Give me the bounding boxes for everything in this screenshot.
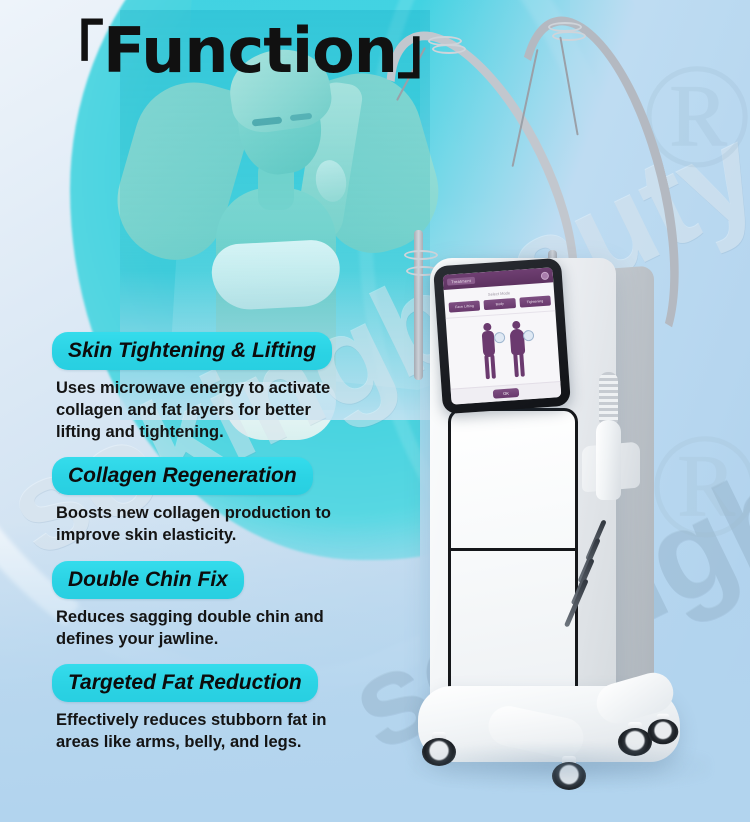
feature-item: Targeted Fat Reduction Effectively reduc… xyxy=(52,664,392,754)
feature-description: Boosts new collagen production to improv… xyxy=(56,503,346,547)
treatment-zone-badge-female xyxy=(493,332,505,344)
screen-body-diagram xyxy=(446,310,561,389)
beauty-machine: Treatment Select Mode Face Lifting Body … xyxy=(400,0,750,822)
screen-ok-button[interactable]: OK xyxy=(493,388,519,399)
screen-mode-button-2[interactable]: Body xyxy=(484,298,516,310)
feature-description: Reduces sagging double chin and defines … xyxy=(56,607,346,651)
screen-mode-button-3[interactable]: Tightening xyxy=(519,296,551,308)
screen-mode-button-1[interactable]: Face Lifting xyxy=(449,300,481,312)
feature-item: Skin Tightening & Lifting Uses microwave… xyxy=(52,332,392,443)
ventilation-slats xyxy=(576,518,640,652)
feature-item: Double Chin Fix Reduces sagging double c… xyxy=(52,561,392,651)
treatment-zone-badge-male xyxy=(522,330,534,342)
touchscreen-bezel: Treatment Select Mode Face Lifting Body … xyxy=(433,258,571,415)
cable-coil-4 xyxy=(552,31,586,41)
caster-wheel-rear-left xyxy=(648,714,679,745)
page-title: 「Function」 xyxy=(42,20,458,82)
machine-floor-shadow xyxy=(410,744,710,790)
handpiece-grip xyxy=(599,372,618,424)
male-silhouette-icon[interactable] xyxy=(506,320,530,377)
feature-heading: Skin Tightening & Lifting xyxy=(52,332,332,370)
cable-coil-5 xyxy=(404,250,438,260)
feature-heading: Double Chin Fix xyxy=(52,561,244,599)
touchscreen-display[interactable]: Treatment Select Mode Face Lifting Body … xyxy=(443,267,562,404)
screen-title: Treatment xyxy=(447,277,475,286)
poster-canvas: sokingbeauty sokingbeauty ® ® Treatment xyxy=(0,0,750,822)
feature-description: Effectively reduces stubborn fat in area… xyxy=(56,710,356,754)
feature-heading: Targeted Fat Reduction xyxy=(52,664,318,702)
gear-icon[interactable] xyxy=(541,271,550,280)
feature-heading: Collagen Regeneration xyxy=(52,457,313,495)
female-silhouette-icon[interactable] xyxy=(477,322,501,379)
feature-list: Skin Tightening & Lifting Uses microwave… xyxy=(52,332,392,768)
handpiece-body xyxy=(596,420,621,500)
feature-item: Collagen Regeneration Boosts new collage… xyxy=(52,457,392,547)
machine-front-panel xyxy=(448,408,578,708)
machine-front-panel-divider xyxy=(448,548,578,551)
feature-description: Uses microwave energy to activate collag… xyxy=(56,378,356,443)
treatment-handpiece[interactable] xyxy=(596,372,622,500)
